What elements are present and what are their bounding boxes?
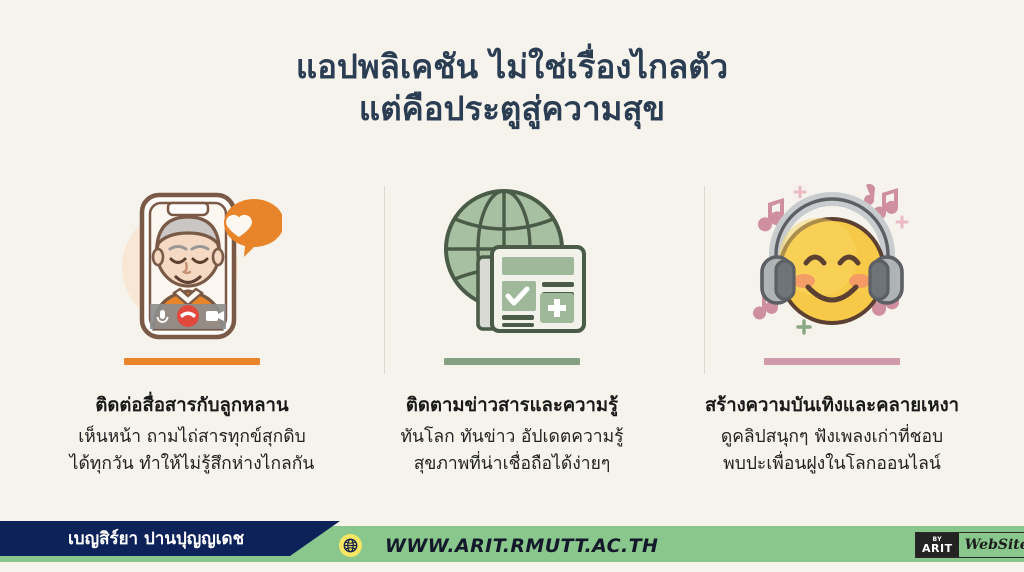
globe-icon	[339, 534, 362, 557]
feature-columns: ติดต่อสื่อสารกับลูกหลาน เห็นหน้า ถามไถ่ส…	[32, 170, 992, 500]
website-url[interactable]: WWW.ARIT.RMUTT.AC.TH	[385, 535, 658, 557]
feature-heading: ติดต่อสื่อสารกับลูกหลาน	[95, 393, 288, 419]
feature-body-line-2: พบปะเพื่อนฝูงในโลกออนไลน์	[723, 451, 941, 478]
page-title: แอปพลิเคชัน ไม่ใช่เรื่องไกลตัว แต่คือประ…	[0, 46, 1024, 130]
video-call-phone-icon	[102, 170, 282, 352]
arit-logo-mark: BY ARIT	[916, 533, 959, 557]
accent-rule	[444, 358, 580, 365]
feature-body-line-2: สุขภาพที่น่าเชื่อถือได้ง่ายๆ	[414, 451, 611, 478]
feature-heading: สร้างความบันเทิงและคลายเหงา	[705, 393, 959, 419]
author-banner: เบญสิร์ยา ปานปุญญเดช	[0, 521, 340, 556]
title-line-1: แอปพลิเคชัน ไม่ใช่เรื่องไกลตัว	[0, 46, 1024, 88]
feature-body-line-1: ทันโลก ทันข่าว อัปเดตความรู้	[400, 424, 623, 451]
slide-canvas: แอปพลิเคชัน ไม่ใช่เรื่องไกลตัว แต่คือประ…	[0, 0, 1024, 572]
accent-rule	[764, 358, 900, 365]
arit-website-logo: BY ARIT WebSite	[915, 532, 1024, 558]
feature-column-news: ติดตามข่าวสารและความรู้ ทันโลก ทันข่าว อ…	[352, 170, 672, 500]
accent-rule	[124, 358, 260, 365]
feature-body-line-1: เห็นหน้า ถามไถ่สารทุกข์สุกดิบ	[78, 424, 305, 451]
feature-heading: ติดตามข่าวสารและความรู้	[406, 393, 618, 419]
smiley-headphones-music-icon	[742, 170, 922, 352]
feature-body-line-2: ได้ทุกวัน ทำให้ไม่รู้สึกห่างไกลกัน	[70, 451, 315, 478]
globe-newspaper-icon	[422, 170, 602, 352]
logo-website-word: WebSite	[959, 533, 1024, 557]
title-line-2: แต่คือประตูสู่ความสุข	[0, 88, 1024, 130]
logo-org-label: ARIT	[922, 543, 953, 554]
feature-column-communication: ติดต่อสื่อสารกับลูกหลาน เห็นหน้า ถามไถ่ส…	[32, 170, 352, 500]
feature-column-entertainment: สร้างความบันเทิงและคลายเหงา ดูคลิปสนุกๆ …	[672, 170, 992, 500]
author-name: เบญสิร์ยา ปานปุญญเดช	[68, 525, 244, 552]
feature-body-line-1: ดูคลิปสนุกๆ ฟังเพลงเก่าที่ชอบ	[721, 424, 943, 451]
